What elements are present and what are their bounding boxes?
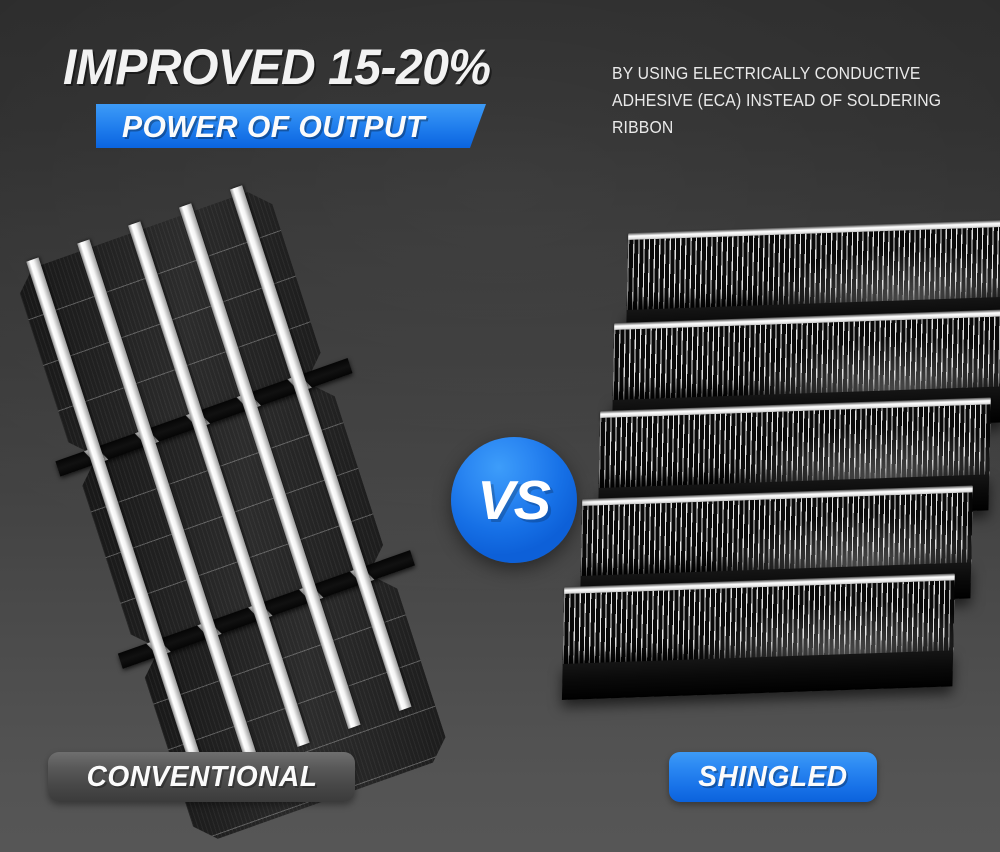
conventional-label: CONVENTIONAL bbox=[86, 761, 317, 794]
conventional-panel-image bbox=[70, 222, 380, 742]
page-title: IMPROVED 15-20% bbox=[63, 40, 491, 94]
shingled-label-badge: SHINGLED bbox=[669, 752, 877, 802]
infographic-root: IMPROVED 15-20% POWER OF OUTPUT BY USING… bbox=[0, 0, 1000, 852]
shingle-strip bbox=[562, 580, 955, 702]
conventional-label-badge: CONVENTIONAL bbox=[48, 752, 355, 802]
conventional-cell-stack bbox=[0, 183, 451, 781]
shingled-panel-image bbox=[555, 232, 975, 732]
banner-label: POWER OF OUTPUT bbox=[122, 110, 425, 144]
description-text: BY USING ELECTRICALLY CONDUCTIVE ADHESIV… bbox=[612, 60, 945, 141]
vs-badge: VS bbox=[451, 437, 577, 563]
shingled-label: SHINGLED bbox=[698, 761, 847, 794]
vs-label: VS bbox=[478, 473, 551, 528]
busbar-ribbons bbox=[0, 170, 456, 795]
